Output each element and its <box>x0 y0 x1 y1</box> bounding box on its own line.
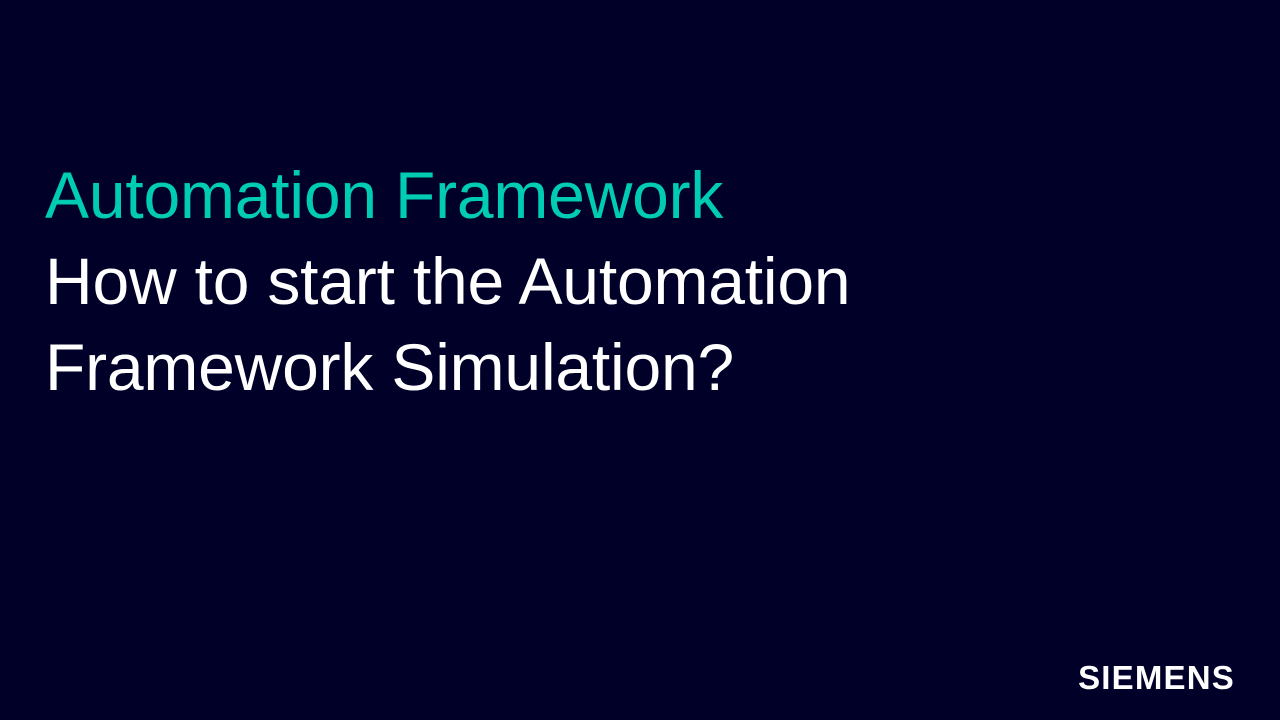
title-block: Automation Framework How to start the Au… <box>45 152 1045 410</box>
presentation-slide: Automation Framework How to start the Au… <box>0 0 1280 720</box>
slide-main-title: How to start the Automation Framework Si… <box>45 238 945 410</box>
siemens-logo: SIEMENS <box>1078 661 1235 694</box>
slide-title-line-1: How to start the Automation <box>45 238 945 324</box>
slide-eyebrow-title: Automation Framework <box>45 152 1045 238</box>
slide-title-line-2: Framework Simulation? <box>45 324 945 410</box>
